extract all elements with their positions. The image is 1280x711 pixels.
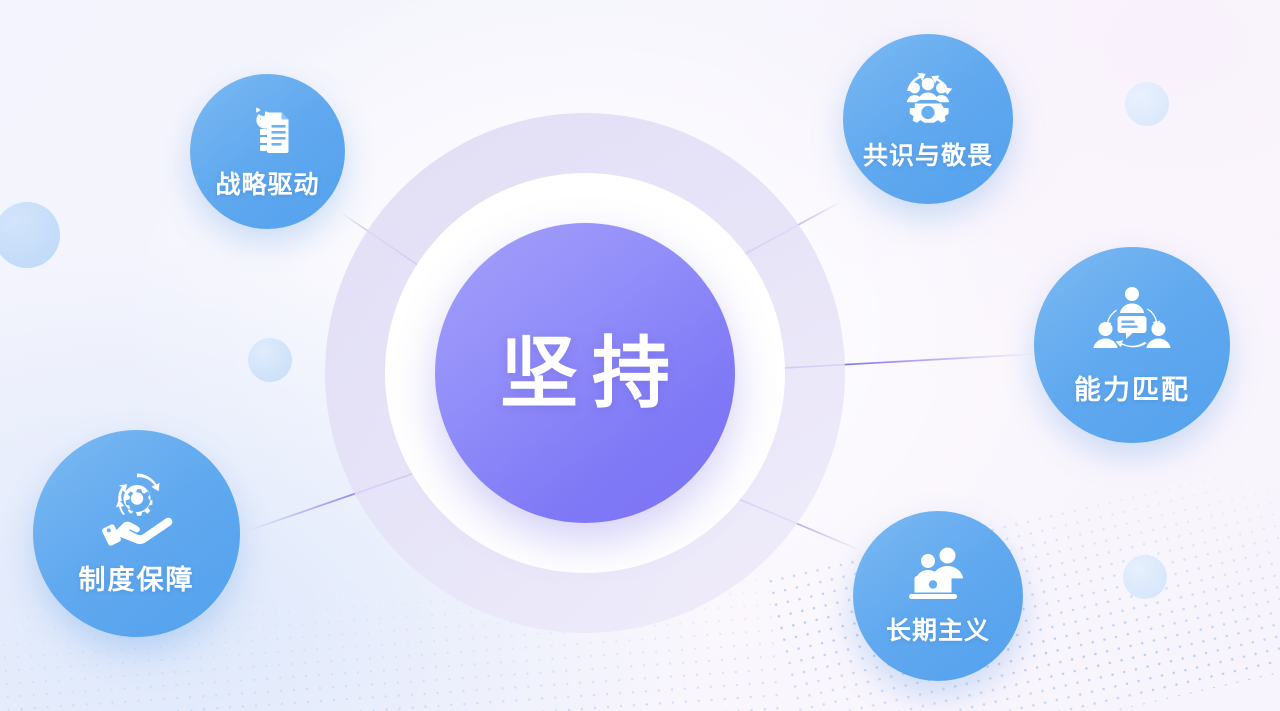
people-collaboration-icon	[1092, 283, 1172, 357]
node-longterm[interactable]: 长期主义	[853, 511, 1023, 681]
node-consensus-label: 共识与敬畏	[863, 136, 993, 172]
infographic-canvas: 坚持 战略驱动	[0, 0, 1280, 711]
hand-gear-icon	[94, 470, 180, 546]
node-system[interactable]: 制度保障	[33, 430, 240, 637]
decorative-circle-right-top	[1125, 82, 1169, 126]
decorative-circle-right-bottom	[1123, 555, 1167, 599]
document-gear-icon	[239, 103, 297, 157]
people-laptop-icon	[906, 546, 970, 602]
center-label: 坚持	[486, 334, 684, 412]
node-strategy-label: 战略驱动	[215, 165, 319, 201]
node-strategy[interactable]: 战略驱动	[190, 74, 345, 229]
node-system-label: 制度保障	[79, 558, 195, 597]
node-longterm-label: 长期主义	[886, 611, 990, 647]
node-capability[interactable]: 能力匹配	[1034, 247, 1230, 443]
team-gear-icon	[895, 67, 961, 127]
decorative-circle-left-small	[248, 338, 292, 382]
center-core-circle[interactable]: 坚持	[435, 223, 735, 523]
decorative-circle-left-large	[0, 202, 60, 268]
node-capability-label: 能力匹配	[1074, 368, 1190, 407]
node-consensus[interactable]: 共识与敬畏	[843, 34, 1013, 204]
